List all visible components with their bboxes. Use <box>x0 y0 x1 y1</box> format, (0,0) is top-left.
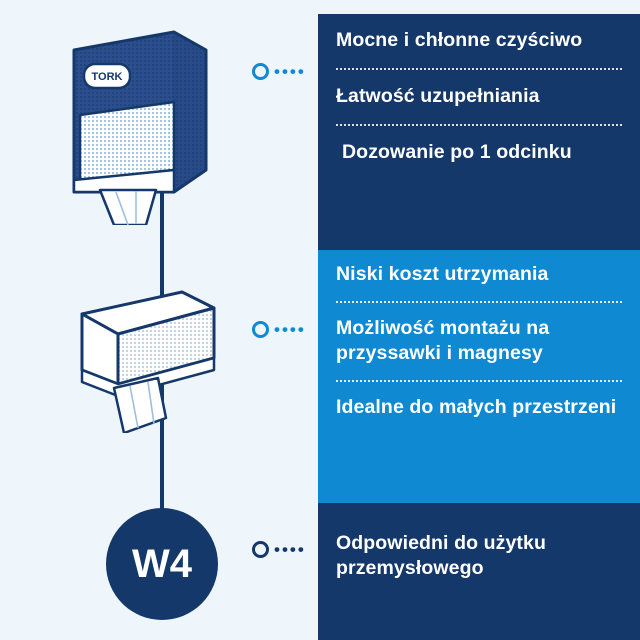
system-code-label: W4 <box>132 542 192 587</box>
system-code-badge: W4 <box>106 508 218 620</box>
feature-panel-top: Mocne i chłonne czyściwo Łatwość uzupełn… <box>318 14 640 250</box>
connector-ring-icon <box>252 321 269 338</box>
feature-divider <box>336 301 622 303</box>
connector-ring-icon <box>252 541 269 558</box>
svg-text:TORK: TORK <box>92 71 123 83</box>
connector-top: •••• <box>252 63 306 80</box>
infographic-page: TORK <box>0 0 640 640</box>
feature-item: Możliwość montażu na przyssawki i magnes… <box>336 316 622 366</box>
dispenser-illustration-middle <box>62 278 232 433</box>
connector-bottom: •••• <box>252 541 306 558</box>
dispenser-illustration-top: TORK <box>56 20 226 225</box>
feature-divider <box>336 124 622 126</box>
feature-panel-bottom: Odpowiedni do użytku przemysłowego <box>318 503 640 640</box>
feature-panel-middle: Niski koszt utrzymania Możliwość montażu… <box>318 250 640 503</box>
feature-item: Idealne do małych przestrzeni <box>336 395 622 420</box>
feature-divider <box>336 68 622 70</box>
connector-dots: •••• <box>274 325 306 335</box>
connector-middle: •••• <box>252 321 306 338</box>
feature-item: Dozowanie po 1 odcinku <box>336 140 622 165</box>
feature-item: Łatwość uzupełniania <box>336 84 622 109</box>
feature-item: Mocne i chłonne czyściwo <box>336 28 622 53</box>
connector-dots: •••• <box>274 67 306 77</box>
connector-ring-icon <box>252 63 269 80</box>
feature-divider <box>336 380 622 382</box>
connector-dots: •••• <box>274 545 306 555</box>
feature-item: Niski koszt utrzymania <box>336 262 622 287</box>
feature-item: Odpowiedni do użytku przemysłowego <box>336 531 622 581</box>
